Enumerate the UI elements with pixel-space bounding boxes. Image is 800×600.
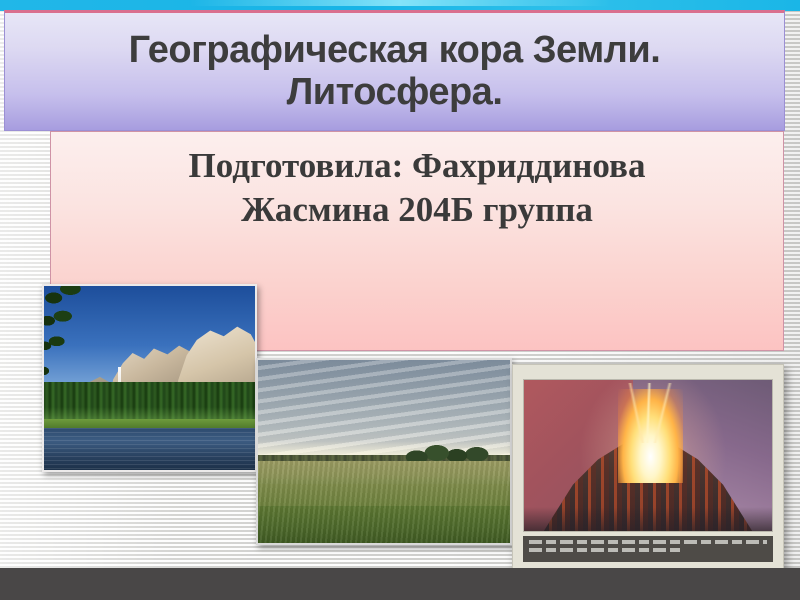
photo-foreground-branch — [42, 284, 116, 396]
mountain-valley-photo — [42, 284, 257, 472]
title-box: Географическая кора Земли. Литосфера. — [4, 10, 785, 131]
volcano-photo-caption — [523, 536, 773, 562]
photo-river-ripples — [44, 428, 255, 470]
page-title: Географическая кора Земли. Литосфера. — [115, 30, 675, 112]
subtitle-line-1: Подготовила: Фахриддинова — [189, 146, 646, 185]
photo-lava-spatter — [598, 383, 702, 443]
photo-base-haze — [524, 507, 772, 531]
presentation-slide: Географическая кора Земли. Литосфера. По… — [0, 0, 800, 600]
plain-steppe-photo — [256, 358, 512, 545]
author-credit: Подготовила: Фахриддинова Жасмина 204Б г… — [159, 132, 676, 232]
caption-text-line — [529, 540, 767, 544]
volcano-eruption-photo — [523, 379, 773, 532]
caption-text-line — [529, 548, 681, 552]
title-line-2: Литосфера. — [287, 71, 503, 113]
bottom-bar — [0, 568, 800, 600]
volcano-photo-frame — [512, 364, 784, 578]
photo-field-texture — [258, 461, 510, 543]
top-accent-highlight — [190, 0, 610, 6]
subtitle-line-2: Жасмина 204Б группа — [241, 190, 593, 229]
title-line-1: Географическая кора Земли. — [129, 29, 661, 71]
